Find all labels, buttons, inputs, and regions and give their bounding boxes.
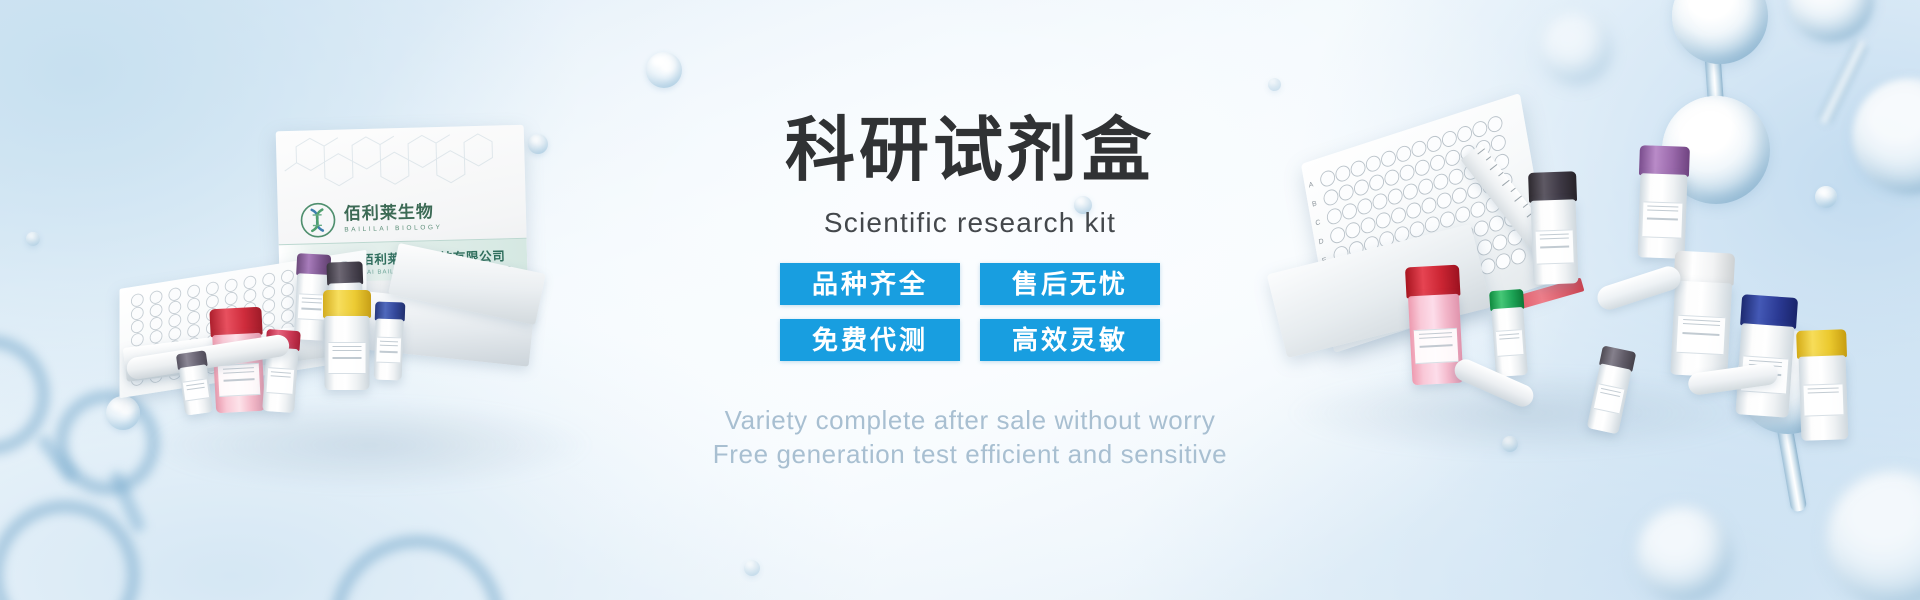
vial-yellow [323, 290, 371, 390]
feature-badge-variety[interactable]: 品种齐全 [780, 263, 960, 305]
page-subtitle: Scientific research kit [690, 207, 1250, 239]
vial-green [1489, 289, 1529, 377]
brand-logo: 佰利莱生物 BAILILAI BIOLOGY [300, 199, 443, 239]
svg-text:C: C [1315, 219, 1321, 227]
svg-text:A: A [1308, 181, 1314, 189]
vial-blue [1734, 294, 1798, 418]
banner-text-block: 科研试剂盒 Scientific research kit 品种齐全 售后无忧 … [690, 110, 1250, 471]
tagline-line-2: Free generation test efficient and sensi… [690, 437, 1250, 471]
left-product-group: 佰利莱生物 BAILILAI BIOLOGY 上海佰利莱生物科技有限公司 SHA… [0, 0, 680, 600]
svg-text:D: D [1318, 238, 1324, 246]
feature-badge-aftersale[interactable]: 售后无忧 [980, 263, 1160, 305]
brand-name-cn: 佰利莱生物 [344, 203, 443, 223]
vial-charcoal [1528, 171, 1580, 285]
ampoule [1594, 263, 1683, 312]
vial-yellow [1796, 329, 1850, 441]
vial-blue [373, 302, 406, 381]
vial-white [1669, 251, 1735, 378]
feature-badge-sensitive[interactable]: 高效灵敏 [980, 319, 1160, 361]
svg-text:B: B [1312, 200, 1318, 208]
vial-purple [1636, 145, 1690, 259]
page-title: 科研试剂盒 [690, 110, 1250, 191]
tagline-block: Variety complete after sale without worr… [690, 403, 1250, 472]
right-product-group: ABCD EFGH [1260, 0, 1920, 600]
feature-badge-free-testing[interactable]: 免费代测 [780, 319, 960, 361]
dna-helix-icon [300, 202, 337, 239]
brand-name-en: BAILILAI BIOLOGY [344, 224, 442, 234]
tagline-line-1: Variety complete after sale without worr… [690, 403, 1250, 437]
promotional-banner: 佰利莱生物 BAILILAI BIOLOGY 上海佰利莱生物科技有限公司 SHA… [0, 0, 1920, 600]
feature-badge-list: 品种齐全 售后无忧 免费代测 高效灵敏 [780, 263, 1160, 361]
